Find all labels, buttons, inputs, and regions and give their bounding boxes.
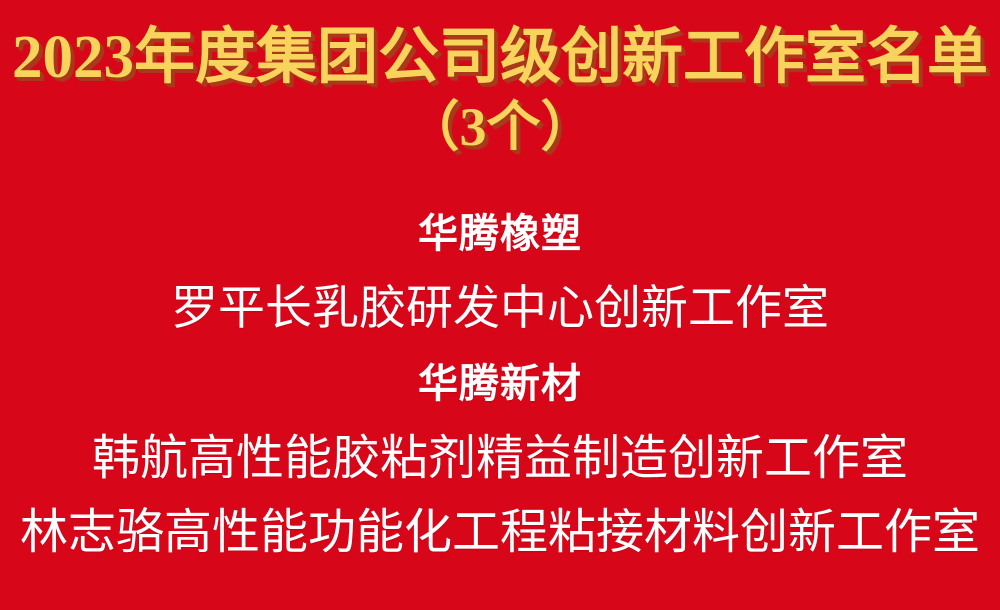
title-block: 2023年度集团公司级创新工作室名单 （3个） <box>0 22 1000 158</box>
poster-canvas: 2023年度集团公司级创新工作室名单 （3个） 华腾橡塑 罗平长乳胶研发中心创新… <box>0 0 1000 610</box>
studio-name: 韩航高性能胶粘剂精益制造创新工作室 <box>0 422 1000 496</box>
page-subtitle-count: （3个） <box>0 96 1000 158</box>
studio-name: 罗平长乳胶研发中心创新工作室 <box>0 272 1000 346</box>
group-huateng-xincai: 华腾新材 韩航高性能胶粘剂精益制造创新工作室 林志骆高性能功能化工程粘接材料创新… <box>0 346 1000 570</box>
group-huateng-xiangsu: 华腾橡塑 罗平长乳胶研发中心创新工作室 <box>0 196 1000 346</box>
studio-name: 林志骆高性能功能化工程粘接材料创新工作室 <box>0 496 1000 570</box>
studio-list: 华腾橡塑 罗平长乳胶研发中心创新工作室 华腾新材 韩航高性能胶粘剂精益制造创新工… <box>0 196 1000 570</box>
group-name: 华腾橡塑 <box>0 196 1000 272</box>
page-title: 2023年度集团公司级创新工作室名单 <box>0 22 1000 94</box>
group-name: 华腾新材 <box>0 346 1000 422</box>
